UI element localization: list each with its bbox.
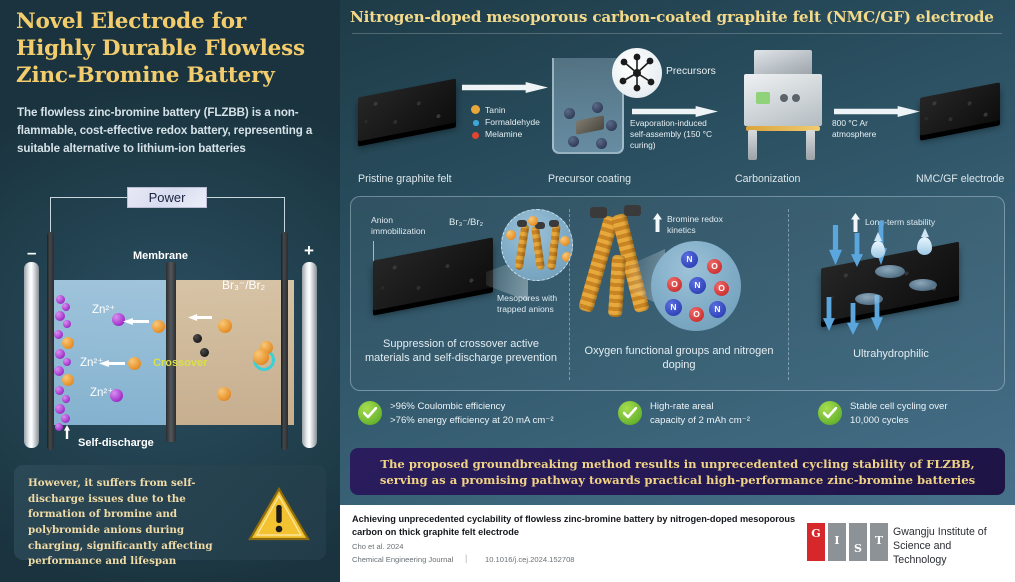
bromine-species-label: Br₃⁻/Br₂ — [449, 217, 483, 229]
self-assembly-note: Evaporation-induced self-assembly (150 °… — [630, 118, 722, 151]
nitrogen-atom: N — [709, 301, 726, 318]
carbon-nanotube — [547, 224, 561, 271]
zinc-dendrite — [55, 423, 63, 431]
fiber-cap — [624, 205, 641, 216]
fiber-cap — [590, 207, 607, 218]
furnace-leg-right — [806, 130, 815, 160]
crossover-label: Crossover — [153, 357, 207, 369]
anion-immobilization-label: Anion immobilization — [371, 215, 433, 236]
bromide-ion-sphere — [218, 319, 232, 333]
wire-down-right — [284, 197, 285, 237]
right-panel-header: Nitrogen-doped mesoporous carbon-coated … — [350, 8, 1005, 26]
panel-divider-2 — [788, 209, 789, 380]
membrane-label: Membrane — [133, 250, 188, 262]
logo-tile-t: T — [870, 523, 888, 561]
zinc-dendrite — [54, 366, 64, 376]
precursor-cluster — [596, 138, 607, 149]
wire-down-left — [50, 197, 51, 237]
conclusion-text: The proposed groundbreaking method resul… — [366, 456, 989, 489]
wire-top-right — [207, 197, 285, 198]
trapped-anion — [562, 252, 572, 262]
logo-tile-g: G — [807, 523, 825, 561]
carbon-nanotube — [514, 224, 529, 271]
logo-letter-g: G — [807, 527, 825, 540]
precursor-cluster — [564, 108, 575, 119]
trapped-anion — [560, 236, 570, 246]
bromide-on-dendrite — [62, 337, 74, 349]
positive-electrode-rod — [281, 232, 288, 450]
precursors-label: Precursors — [666, 66, 716, 77]
positive-terminal-sign: + — [304, 241, 314, 261]
result-text-1: >96% Coulombic efficiency >76% energy ef… — [390, 400, 554, 428]
bromide-on-dendrite — [62, 374, 74, 386]
catholyte-compartment — [176, 280, 294, 425]
oxygen-atom: O — [714, 281, 729, 296]
mesopore-note: Mesopores with trapped anions — [497, 293, 569, 314]
nitrogen-atom: N — [681, 251, 698, 268]
zinc-ion-label-1: Zn²⁺ — [92, 302, 115, 316]
pristine-graphite-felt — [358, 78, 456, 141]
mechanism-caption-3: Ultrahydrophilic — [801, 347, 981, 361]
paper-authors: Cho et al. 2024 — [352, 542, 404, 551]
nanotube-cap — [517, 220, 527, 227]
key-results-row: >96% Coulombic efficiency >76% energy ef… — [350, 398, 1005, 440]
synthesis-process-row: Pristine graphite felt Tanin Formaldehyd… — [340, 40, 1015, 195]
warning-callout: However, it suffers from self-discharge … — [14, 465, 326, 560]
warning-triangle-icon — [248, 487, 310, 541]
process-step-label-4: NMC/GF electrode — [916, 173, 1004, 185]
furnace-leg-left — [748, 130, 757, 160]
nitrogen-atom: N — [665, 299, 682, 316]
bromide-ion-sphere — [128, 357, 141, 370]
bromide-ion-sphere — [152, 320, 165, 333]
polybromide-sphere — [200, 348, 209, 357]
zinc-dendrite — [62, 303, 70, 311]
legend-dot-tanin — [471, 105, 480, 114]
hydrophilic-felt-block — [821, 242, 959, 323]
wetted-pore — [855, 293, 883, 305]
legend-dot-melamine — [472, 132, 479, 139]
bromine-kinetics-label: Bromine redox kinetics — [667, 214, 741, 235]
zinc-dendrite — [55, 311, 65, 321]
gist-logo: G I S T Gwangju Institute of Science and… — [807, 523, 1003, 563]
logo-letter-t: T — [870, 534, 888, 547]
check-icon — [358, 401, 382, 425]
check-icon — [818, 401, 842, 425]
oxygen-atom: O — [667, 277, 682, 292]
precursor-cluster — [606, 120, 617, 131]
carbonization-note: 800 °C Ar atmosphere — [832, 118, 910, 140]
furnace-top — [754, 50, 812, 76]
right-panel: Nitrogen-doped mesoporous carbon-coated … — [340, 0, 1015, 505]
citation-separator: | — [465, 553, 467, 563]
journal-name: Chemical Engineering Journal — [352, 555, 453, 564]
nitrogen-atom: N — [689, 277, 706, 294]
zinc-dendrite — [61, 414, 70, 423]
positive-current-collector — [302, 262, 317, 448]
legend-label-melamine: Melamine — [485, 129, 522, 139]
carbon-nanotube — [531, 226, 545, 271]
water-droplet — [871, 241, 885, 258]
mesoporous-felt-block — [373, 237, 493, 310]
carbon-fiber — [608, 255, 626, 318]
trapped-anion — [506, 230, 516, 240]
legend-label-formaldehyde: Formaldehyde — [485, 117, 540, 127]
nmc-gf-electrode-felt — [920, 82, 1000, 136]
mechanism-panel-group: Anion immobilization Br₃⁻/Br₂ Mesopores … — [350, 196, 1005, 391]
mechanism-caption-1: Suppression of crossover active material… — [363, 337, 559, 365]
negative-current-collector — [24, 262, 39, 448]
result-text-2: High-rate areal capacity of 2 mAh cm⁻² — [650, 400, 750, 428]
zinc-ion-label-3: Zn²⁺ — [90, 385, 113, 399]
zinc-dendrite — [63, 320, 71, 328]
self-discharge-label: Self-discharge — [78, 437, 154, 449]
oxygen-atom: O — [689, 307, 704, 322]
conclusion-banner: The proposed groundbreaking method resul… — [350, 448, 1005, 495]
bromine-kinetics-arrow-icon — [653, 213, 662, 232]
check-icon — [618, 401, 642, 425]
citation-footer: Achieving unprecedented cyclability of f… — [340, 505, 1015, 582]
header-divider — [352, 33, 1002, 34]
zinc-dendrite — [55, 349, 65, 359]
precursor-cluster — [592, 102, 603, 113]
polybromide-sphere — [193, 334, 202, 343]
logo-letter-s: S — [849, 542, 867, 555]
warning-text: However, it suffers from self-discharge … — [28, 476, 240, 570]
bromide-ion-sphere — [217, 387, 231, 401]
wetting-arrow-icon — [829, 225, 842, 265]
gist-logo-name: Gwangju Institute of Science and Technol… — [893, 526, 1003, 568]
zinc-ion-label-2: Zn²⁺ — [80, 355, 103, 369]
nanotube-cap — [549, 220, 559, 227]
long-term-stability-arrow-icon — [851, 213, 860, 232]
wetted-pore — [875, 265, 905, 278]
precursor-cluster — [568, 136, 579, 147]
mesopore-zoom-circle — [501, 209, 573, 281]
doping-zoom-circle: N O O N O N N O — [651, 241, 741, 331]
power-label: Power — [127, 187, 207, 208]
infographic-page: Novel Electrode for Highly Durable Flowl… — [0, 0, 1015, 582]
zinc-dendrite — [62, 395, 70, 403]
process-step-label-1: Pristine graphite felt — [358, 173, 452, 185]
zinc-dendrite — [55, 404, 65, 414]
precursor-molecule-circle — [612, 48, 662, 98]
zinc-dendrite — [55, 386, 64, 395]
wetted-pore — [909, 279, 937, 291]
process-arrow-3 — [834, 106, 920, 117]
logo-tile-i: I — [828, 523, 846, 561]
carbonization-furnace — [736, 50, 828, 162]
oxygen-atom: O — [707, 259, 722, 274]
process-step-label-3: Carbonization — [735, 173, 800, 185]
intro-paragraph: The flowless zinc-bromine battery (FLZBB… — [17, 104, 322, 158]
process-step-label-2: Precursor coating — [548, 173, 631, 185]
negative-terminal-sign: – — [27, 243, 36, 263]
furnace-dial-1 — [780, 94, 788, 102]
molecule-icon — [612, 48, 662, 98]
mechanism-caption-2: Oxygen functional groups and nitrogen do… — [579, 344, 779, 372]
process-arrow-2 — [632, 106, 718, 117]
bromide-ion-sphere — [253, 349, 269, 365]
left-panel: Novel Electrode for Highly Durable Flowl… — [0, 0, 340, 582]
page-title: Novel Electrode for Highly Durable Flowl… — [16, 8, 328, 89]
zinc-dendrite — [63, 358, 71, 366]
wire-top-left — [50, 197, 128, 198]
process-arrow-1 — [462, 82, 548, 93]
paper-title: Achieving unprecedented cyclability of f… — [352, 513, 812, 539]
trapped-anion — [528, 216, 538, 226]
catholyte-species-label: Br₃⁻/Br₂ — [222, 278, 265, 292]
logo-tile-s: S — [849, 523, 867, 561]
legend-label-tanin: Tanin — [485, 105, 506, 115]
water-droplet — [917, 237, 932, 255]
negative-electrode-rod — [47, 232, 54, 450]
furnace-dial-2 — [792, 94, 800, 102]
paper-doi[interactable]: 10.1016/j.cej.2024.152708 — [485, 555, 575, 564]
legend-dot-formaldehyde — [473, 120, 479, 126]
membrane-separator — [166, 262, 176, 442]
result-text-3: Stable cell cycling over 10,000 cycles — [850, 400, 948, 428]
logo-letter-i: I — [828, 534, 846, 547]
zinc-dendrite — [54, 330, 63, 339]
furnace-display — [756, 92, 770, 104]
